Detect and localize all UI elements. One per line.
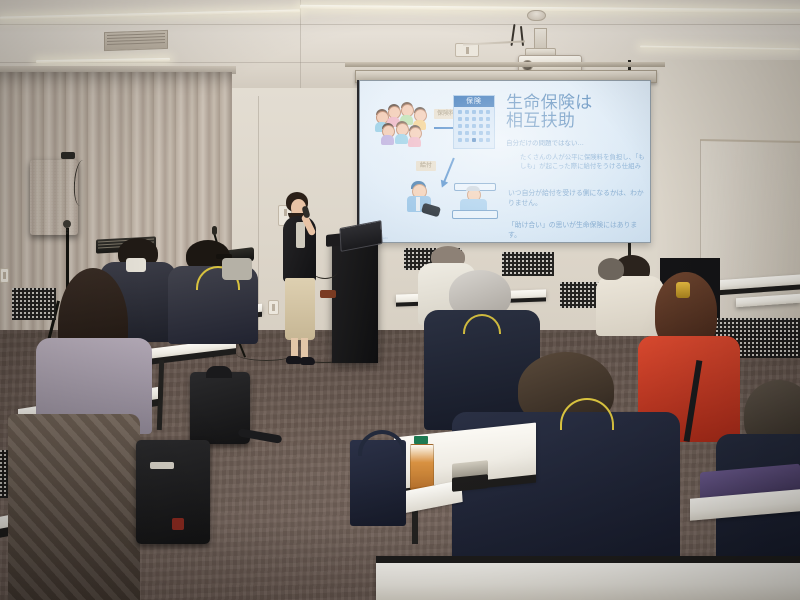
- audience-top: [596, 276, 664, 336]
- chair-back: [502, 252, 554, 276]
- wall-header-band: [345, 62, 665, 67]
- speaker-top-box: [61, 152, 75, 159]
- hair-clip: [676, 282, 690, 298]
- insurance-card-label: 保険: [454, 96, 494, 107]
- bag-logo: [150, 462, 174, 469]
- presenter-skirt: [285, 278, 315, 340]
- smoke-detector-icon: [527, 10, 546, 21]
- slide-title: 生命保険は 相互扶助: [506, 94, 648, 129]
- lectern: [332, 237, 378, 363]
- presenter-shoe: [300, 357, 315, 365]
- bag-tag: [172, 518, 184, 530]
- seminar-room-photo: PROJECTOR: [0, 0, 800, 600]
- slide-tag-benefit: 給付: [416, 161, 436, 171]
- slide-paragraph-1: いつ自分が給付を受ける側になるかは、わかりません。: [508, 189, 648, 209]
- projection-screen: 保険料 保険 給付: [359, 80, 651, 243]
- slide-content: 保険料 保険 給付: [360, 81, 650, 242]
- foreground-table: [376, 562, 800, 600]
- insurance-card-grid: [458, 110, 490, 145]
- lectern-shelf-item: [320, 290, 336, 298]
- slide-title-line2: 相互扶助: [506, 112, 648, 130]
- insurance-card-illustration: 保険: [453, 95, 495, 149]
- slide-subtitle: 自分だけの問題ではない…: [506, 137, 646, 147]
- microphone-icon: [212, 226, 217, 235]
- audience-hair: [598, 258, 624, 280]
- coat-on-chair: [8, 414, 140, 600]
- crowd-illustration: [374, 101, 432, 143]
- chair-back: [12, 288, 56, 320]
- slide-paragraph-2: 「助け合い」の思いが生命保険にはあります。: [508, 221, 648, 241]
- foreground-table-edge: [376, 556, 800, 563]
- audience-shirt: [222, 258, 252, 280]
- slide-callout: たくさんの人が公平に保険料を負担し、「もしも」が起こった際に給付をうける仕組み: [520, 153, 648, 172]
- wall-outlet: [0, 268, 9, 283]
- sick-person-illustration: [402, 177, 442, 219]
- wall-outlet: [268, 300, 279, 315]
- hospital-bed-illustration: [452, 179, 498, 219]
- ceiling-seam: [0, 24, 800, 25]
- slide-title-line1: 生命保険は: [506, 94, 648, 112]
- air-vent: [104, 30, 168, 51]
- backpack-handle: [206, 366, 232, 378]
- audience-collar: [126, 258, 146, 272]
- presenter-blouse: [296, 222, 305, 248]
- pa-speaker: [30, 160, 78, 235]
- bottle-cap: [414, 436, 428, 444]
- ceiling-seam: [300, 0, 301, 96]
- tea-bottle: [410, 444, 434, 492]
